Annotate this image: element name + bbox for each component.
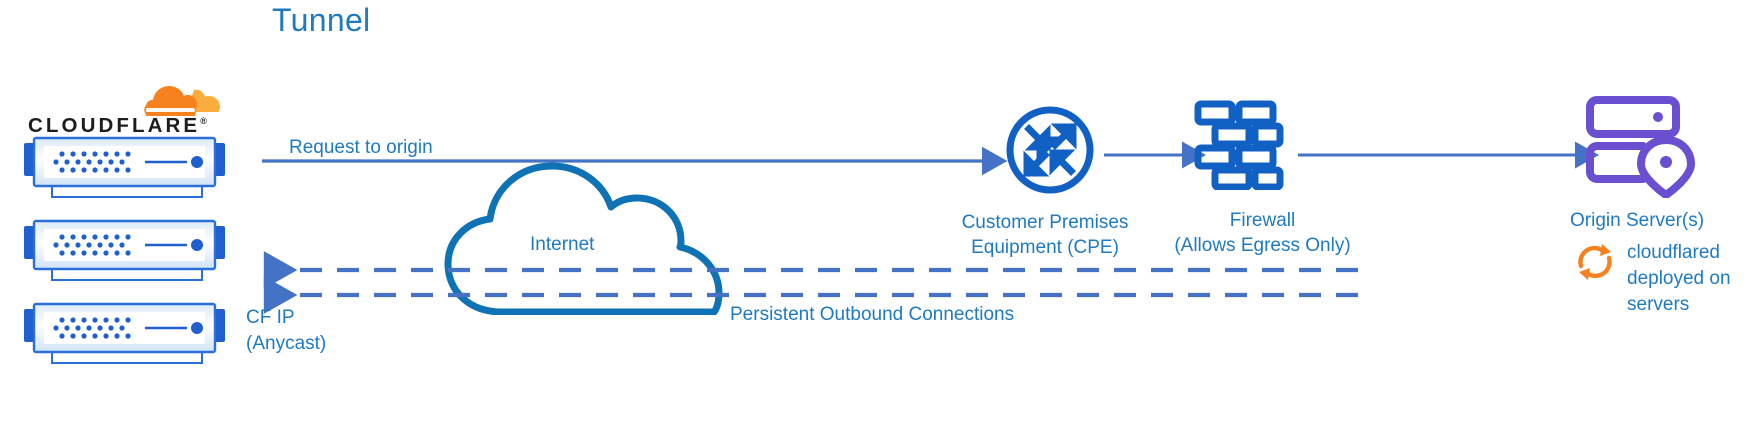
cloudflare-logo: CLOUDFLARE® [28,76,228,138]
cloudflare-edge-server-2 [22,219,227,285]
page-title: Tunnel [272,8,370,33]
edge-label-request-to-origin: Request to origin [289,135,433,160]
node-label-cpe: Customer Premises Equipment (CPE) [945,210,1145,260]
cloudflared-line-3: servers [1627,292,1752,318]
connection-lines [0,0,1754,422]
cloudflared-line-1: cloudflared [1627,240,1752,266]
cloudflared-line-2: deployed on [1627,266,1752,292]
node-label-internet: Internet [530,232,594,257]
cloudflare-wordmark: CLOUDFLARE® [28,114,228,138]
edge-label-persistent-outbound: Persistent Outbound Connections [730,302,1014,327]
trademark-symbol: ® [200,116,207,126]
cpe-line-1: Customer Premises [945,210,1145,235]
cpe-line-2: Equipment (CPE) [945,235,1145,260]
brick-wall-icon [1193,100,1285,190]
node-label-cf-ip: CF IP (Anycast) [246,305,326,357]
cloudflare-wordmark-text: CLOUDFLARE [28,114,200,137]
cloudflare-edge-server-3 [22,302,227,368]
cf-ip-line-2: (Anycast) [246,331,326,357]
sync-arrows-icon [1573,240,1617,284]
internet-cloud-icon [440,140,730,315]
origin-line-1: Origin Server(s) [1570,208,1750,233]
cloudflare-cloud-logo-icon [128,76,224,118]
firewall-line-2: (Allows Egress Only) [1155,233,1370,258]
node-label-firewall: Firewall (Allows Egress Only) [1155,208,1370,258]
node-label-origin-server: Origin Server(s) [1570,208,1750,233]
cloudflare-edge-server-1 [22,136,227,202]
server-location-pin-icon [1586,96,1704,198]
firewall-line-1: Firewall [1155,208,1370,233]
four-arrows-circle-icon [1004,104,1096,196]
annotation-cloudflared: cloudflared deployed on servers [1627,240,1752,318]
cf-ip-line-1: CF IP [246,305,326,331]
